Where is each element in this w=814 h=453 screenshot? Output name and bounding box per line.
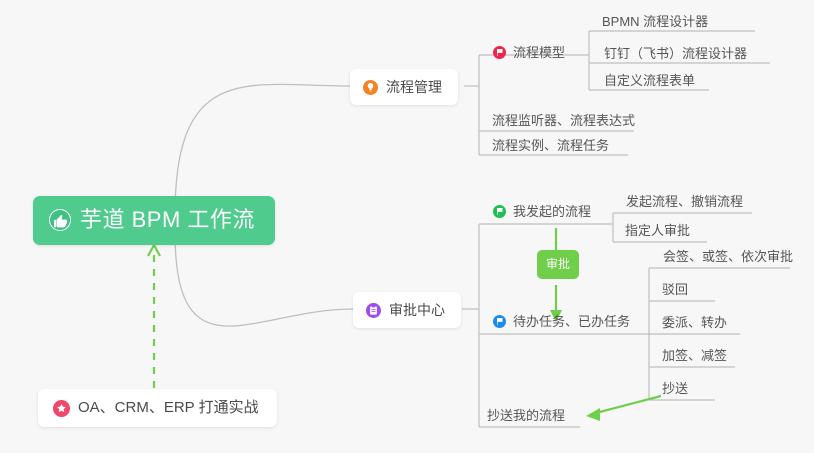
node-process-instance-task-label: 流程实例、流程任务 <box>492 137 609 154</box>
node-delegate-transfer-label: 委派、转办 <box>662 314 727 331</box>
node-countersign-or-sequential-label: 会签、或签、依次审批 <box>663 248 793 265</box>
arrowhead-carbon-copy-left <box>586 408 600 421</box>
node-process-management-label: 流程管理 <box>386 78 442 96</box>
connector-root-to-approval-center <box>175 232 353 326</box>
node-assigned-approver-label: 指定人审批 <box>625 222 690 239</box>
node-cc-to-me-process[interactable]: 抄送我的流程 <box>487 407 565 424</box>
node-assigned-approver[interactable]: 指定人审批 <box>625 222 690 239</box>
node-process-model[interactable]: 流程模型 <box>493 44 565 61</box>
arrow-carbon-copy-to-cc-process <box>592 396 661 414</box>
flag-icon <box>493 46 506 59</box>
node-bpmn-designer-label: BPMN 流程设计器 <box>602 13 708 30</box>
node-my-initiated-process[interactable]: 我发起的流程 <box>493 203 591 220</box>
node-integration-practice-label: OA、CRM、ERP 打通实战 <box>78 399 259 417</box>
node-bpmn-designer[interactable]: BPMN 流程设计器 <box>602 13 708 30</box>
node-reject-label: 驳回 <box>662 281 688 298</box>
clipboard-icon <box>366 303 381 318</box>
node-start-cancel-process[interactable]: 发起流程、撤销流程 <box>626 193 743 210</box>
node-cc-to-me-process-label: 抄送我的流程 <box>487 407 565 424</box>
node-custom-process-form[interactable]: 自定义流程表单 <box>604 72 695 89</box>
node-approval-center[interactable]: 审批中心 <box>353 292 461 328</box>
node-carbon-copy-label: 抄送 <box>662 380 688 397</box>
thumbs-up-icon <box>49 209 71 231</box>
node-approval-center-label: 审批中心 <box>389 301 445 319</box>
flag-icon <box>493 205 506 218</box>
node-process-management[interactable]: 流程管理 <box>350 69 458 105</box>
flag-icon <box>493 315 506 328</box>
node-custom-process-form-label: 自定义流程表单 <box>604 72 695 89</box>
node-carbon-copy[interactable]: 抄送 <box>662 380 688 397</box>
node-add-remove-sign-label: 加签、减签 <box>662 347 727 364</box>
node-process-instance-task[interactable]: 流程实例、流程任务 <box>492 137 609 154</box>
node-dingtalk-feishu-designer-label: 钉钉（飞书）流程设计器 <box>604 45 747 62</box>
node-my-initiated-process-label: 我发起的流程 <box>513 203 591 220</box>
node-todo-done-tasks-label: 待办任务、已办任务 <box>513 313 630 330</box>
node-add-remove-sign[interactable]: 加签、减签 <box>662 347 727 364</box>
node-todo-done-tasks[interactable]: 待办任务、已办任务 <box>493 313 630 330</box>
mindmap-canvas: 芋道 BPM 工作流 流程管理 审批中心 OA、CRM、ERP <box>0 0 814 453</box>
node-reject[interactable]: 驳回 <box>662 281 688 298</box>
root-label: 芋道 BPM 工作流 <box>80 207 255 233</box>
root-node[interactable]: 芋道 BPM 工作流 <box>33 196 275 245</box>
node-countersign-or-sequential[interactable]: 会签、或签、依次审批 <box>663 248 793 265</box>
node-delegate-transfer[interactable]: 委派、转办 <box>662 314 727 331</box>
lightbulb-pin-icon <box>363 80 378 95</box>
annotation-approval-pill[interactable]: 审批 <box>537 250 579 279</box>
node-integration-practice[interactable]: OA、CRM、ERP 打通实战 <box>38 389 277 427</box>
node-start-cancel-process-label: 发起流程、撤销流程 <box>626 193 743 210</box>
node-process-listener-expression-label: 流程监听器、流程表达式 <box>492 112 635 129</box>
arrowhead-integration-up <box>148 245 160 256</box>
star-icon <box>53 400 70 417</box>
node-process-model-label: 流程模型 <box>513 44 565 61</box>
node-process-listener-expression[interactable]: 流程监听器、流程表达式 <box>492 112 635 129</box>
node-dingtalk-feishu-designer[interactable]: 钉钉（飞书）流程设计器 <box>604 45 747 62</box>
